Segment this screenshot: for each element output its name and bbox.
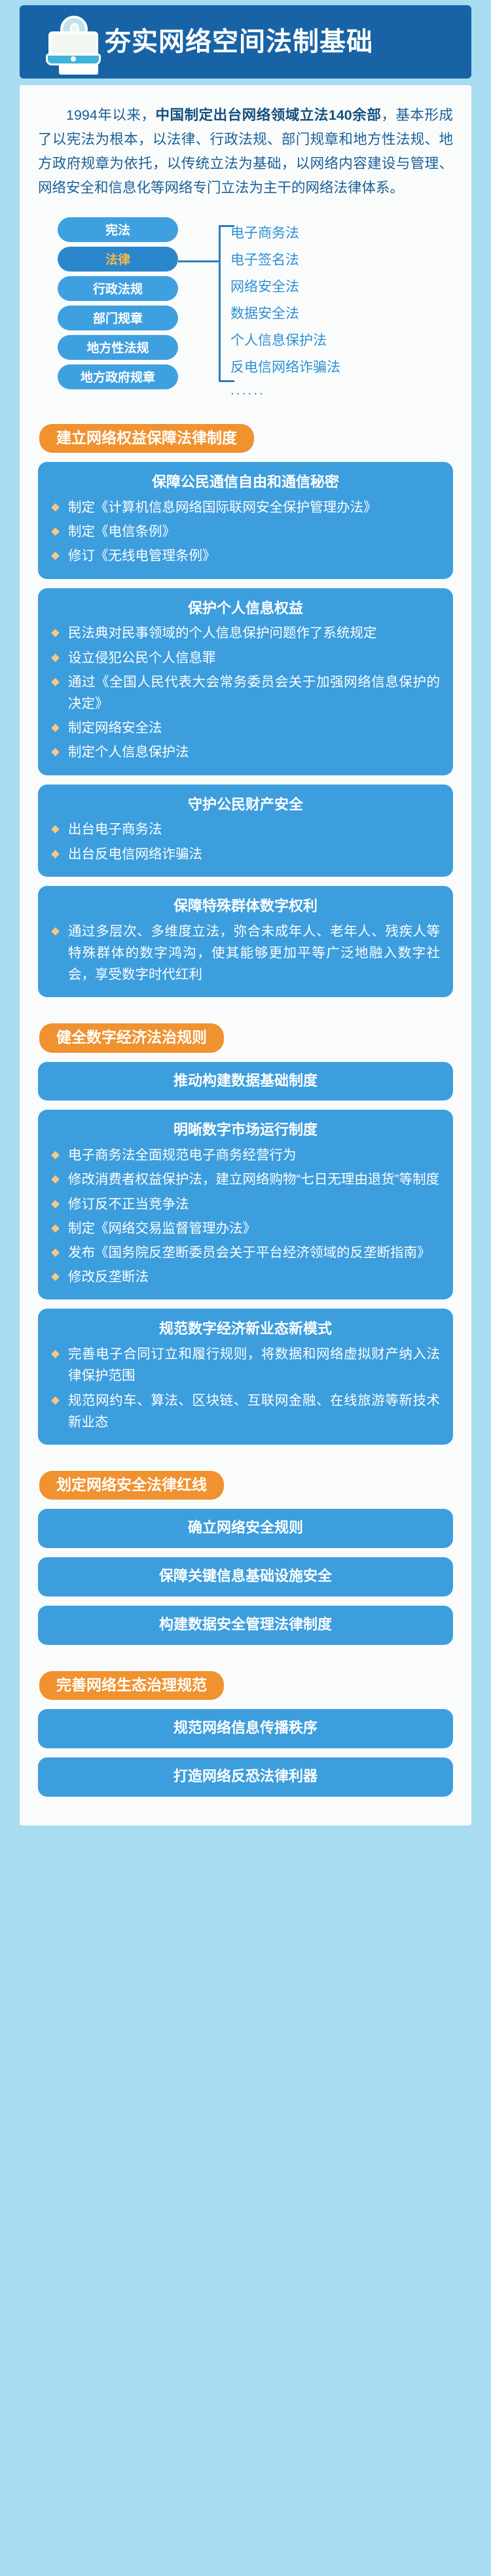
page-title: 夯实网络空间法制基础 — [105, 29, 373, 55]
law-item-3: 数据安全法 — [230, 300, 456, 327]
card-title: 保障关键信息基础设施安全 — [51, 1566, 440, 1587]
laptop-gear-icon — [46, 14, 101, 69]
bullet-item: 通过多层次、多维度立法，弥合未成年人、老年人、残疾人等特殊群体的数字鸿沟，使其能… — [51, 921, 440, 986]
infographic-page: 夯实网络空间法制基础 1994年以来，中国制定出台网络领域立法140余部，基本形… — [0, 5, 491, 2576]
law-item-1: 电子签名法 — [230, 247, 456, 273]
card-title: 确立网络安全规则 — [51, 1518, 440, 1538]
section-1: 健全数字经济法治规则推动构建数据基础制度明晰数字市场运行制度电子商务法全面规范电… — [35, 1006, 456, 1445]
connector-bottom-cap — [219, 380, 234, 382]
bullet-item: 制定《网络交易监督管理办法》 — [51, 1218, 440, 1239]
bullet-item: 修订《无线电管理条例》 — [51, 545, 440, 567]
law-item-5: 反电信网络诈骗法 — [230, 354, 456, 381]
page-header: 夯实网络空间法制基础 — [20, 5, 471, 79]
section-3: 完善网络生态治理规范规范网络信息传播秩序打造网络反恐法律利器 — [35, 1654, 456, 1797]
card-title: 保障特殊群体数字权利 — [51, 896, 440, 917]
card-title: 规范网络信息传播秩序 — [51, 1718, 440, 1738]
bullet-item: 通过《全国人民代表大会常务委员会关于加强网络信息保护的决定》 — [51, 671, 440, 715]
bullet-item: 出台电子商务法 — [51, 819, 440, 840]
law-hierarchy-diagram: 宪法法律行政法规部门规章地方性法规地方政府规章 电子商务法电子签名法网络安全法数… — [35, 217, 456, 400]
law-item-4: 个人信息保护法 — [230, 327, 456, 354]
card-title: 规范数字经济新业态新模式 — [51, 1319, 440, 1339]
card-2-2[interactable]: 构建数据安全管理法律制度 — [38, 1606, 453, 1645]
bullet-item: 民法典对民事领域的个人信息保护问题作了系统规定 — [51, 622, 440, 644]
bullet-item: 完善电子合同订立和履行规则，将数据和网络虚拟财产纳入法律保护范围 — [51, 1343, 440, 1386]
bullet-item: 修订反不正当竞争法 — [51, 1193, 440, 1215]
card-1-0[interactable]: 推动构建数据基础制度 — [38, 1062, 453, 1101]
card-1-2[interactable]: 规范数字经济新业态新模式完善电子合同订立和履行规则，将数据和网络虚拟财产纳入法律… — [38, 1309, 453, 1445]
card-0-3[interactable]: 保障特殊群体数字权利通过多层次、多维度立法，弥合未成年人、老年人、残疾人等特殊群… — [38, 886, 453, 997]
hierarchy-level-3[interactable]: 部门规章 — [58, 306, 178, 330]
card-title: 保障公民通信自由和通信秘密 — [51, 472, 440, 493]
law-list-ellipsis: ...... — [230, 381, 456, 400]
bullet-item: 修改消费者权益保护法，建立网络购物“七日无理由退货”等制度 — [51, 1169, 440, 1190]
bullet-item: 制定个人信息保护法 — [51, 741, 440, 763]
card-title: 守护公民财产安全 — [51, 795, 440, 815]
content-panel: 1994年以来，中国制定出台网络领域立法140余部，基本形成了以宪法为根本，以法… — [20, 85, 471, 1826]
sections-container: 建立网络权益保障法律制度保障公民通信自由和通信秘密制定《计算机信息网络国际联网安… — [35, 407, 456, 1797]
hierarchy-level-4[interactable]: 地方性法规 — [58, 335, 178, 360]
intro-highlight: 中国制定出台网络领域立法140余部 — [156, 107, 382, 123]
card-0-2[interactable]: 守护公民财产安全出台电子商务法出台反电信网络诈骗法 — [38, 785, 453, 877]
card-bullet-list: 通过多层次、多维度立法，弥合未成年人、老年人、残疾人等特殊群体的数字鸿沟，使其能… — [51, 921, 440, 986]
card-2-1[interactable]: 保障关键信息基础设施安全 — [38, 1557, 453, 1597]
card-bullet-list: 民法典对民事领域的个人信息保护问题作了系统规定设立侵犯公民个人信息罪通过《全国人… — [51, 622, 440, 763]
card-title: 保护个人信息权益 — [51, 599, 440, 619]
hierarchy-levels: 宪法法律行政法规部门规章地方性法规地方政府规章 — [35, 217, 178, 400]
connector-horizontal-line — [178, 260, 220, 262]
card-0-0[interactable]: 保障公民通信自由和通信秘密制定《计算机信息网络国际联网安全保护管理办法》制定《电… — [38, 462, 453, 578]
connector-vertical-line — [219, 225, 221, 382]
law-list: 电子商务法电子签名法网络安全法数据安全法个人信息保护法反电信网络诈骗法.....… — [230, 217, 456, 400]
card-bullet-list: 电子商务法全面规范电子商务经营行为修改消费者权益保护法，建立网络购物“七日无理由… — [51, 1144, 440, 1288]
section-heading-0: 建立网络权益保障法律制度 — [39, 424, 254, 453]
section-heading-3: 完善网络生态治理规范 — [39, 1671, 224, 1700]
law-item-2: 网络安全法 — [230, 273, 456, 300]
hierarchy-level-2[interactable]: 行政法规 — [58, 276, 178, 301]
section-0: 建立网络权益保障法律制度保障公民通信自由和通信秘密制定《计算机信息网络国际联网安… — [35, 407, 456, 997]
hierarchy-level-0[interactable]: 宪法 — [58, 217, 178, 242]
hierarchy-level-5[interactable]: 地方政府规章 — [58, 364, 178, 389]
tree-connector — [178, 217, 230, 400]
card-title: 构建数据安全管理法律制度 — [51, 1615, 440, 1635]
card-0-1[interactable]: 保护个人信息权益民法典对民事领域的个人信息保护问题作了系统规定设立侵犯公民个人信… — [38, 588, 453, 775]
card-1-1[interactable]: 明晰数字市场运行制度电子商务法全面规范电子商务经营行为修改消费者权益保护法，建立… — [38, 1110, 453, 1299]
intro-paragraph: 1994年以来，中国制定出台网络领域立法140余部，基本形成了以宪法为根本，以法… — [38, 103, 453, 200]
bullet-item: 电子商务法全面规范电子商务经营行为 — [51, 1144, 440, 1166]
card-title: 推动构建数据基础制度 — [51, 1071, 440, 1091]
bullet-item: 出台反电信网络诈骗法 — [51, 843, 440, 865]
card-3-0[interactable]: 规范网络信息传播秩序 — [38, 1709, 453, 1748]
bullet-item: 制定《计算机信息网络国际联网安全保护管理办法》 — [51, 497, 440, 518]
card-title: 打造网络反恐法律利器 — [51, 1767, 440, 1787]
bullet-item: 规范网约车、算法、区块链、互联网金融、在线旅游等新技术新业态 — [51, 1390, 440, 1433]
intro-prefix: 1994年以来， — [66, 107, 156, 123]
hierarchy-level-1[interactable]: 法律 — [58, 247, 178, 272]
card-title: 明晰数字市场运行制度 — [51, 1120, 440, 1140]
card-3-1[interactable]: 打造网络反恐法律利器 — [38, 1757, 453, 1797]
card-2-0[interactable]: 确立网络安全规则 — [38, 1509, 453, 1548]
section-heading-1: 健全数字经济法治规则 — [39, 1023, 224, 1052]
card-bullet-list: 完善电子合同订立和履行规则，将数据和网络虚拟财产纳入法律保护范围规范网约车、算法… — [51, 1343, 440, 1433]
section-2: 划定网络安全法律红线确立网络安全规则保障关键信息基础设施安全构建数据安全管理法律… — [35, 1454, 456, 1645]
law-item-0: 电子商务法 — [230, 220, 456, 247]
connector-top-cap — [219, 225, 234, 227]
card-bullet-list: 出台电子商务法出台反电信网络诈骗法 — [51, 819, 440, 864]
section-heading-2: 划定网络安全法律红线 — [39, 1471, 224, 1500]
bullet-item: 发布《国务院反垄断委员会关于平台经济领域的反垄断指南》 — [51, 1242, 440, 1263]
bullet-item: 制定网络安全法 — [51, 717, 440, 739]
card-bullet-list: 制定《计算机信息网络国际联网安全保护管理办法》制定《电信条例》修订《无线电管理条… — [51, 497, 440, 567]
bullet-item: 制定《电信条例》 — [51, 521, 440, 542]
bullet-item: 设立侵犯公民个人信息罪 — [51, 647, 440, 669]
bullet-item: 修改反垄断法 — [51, 1266, 440, 1288]
